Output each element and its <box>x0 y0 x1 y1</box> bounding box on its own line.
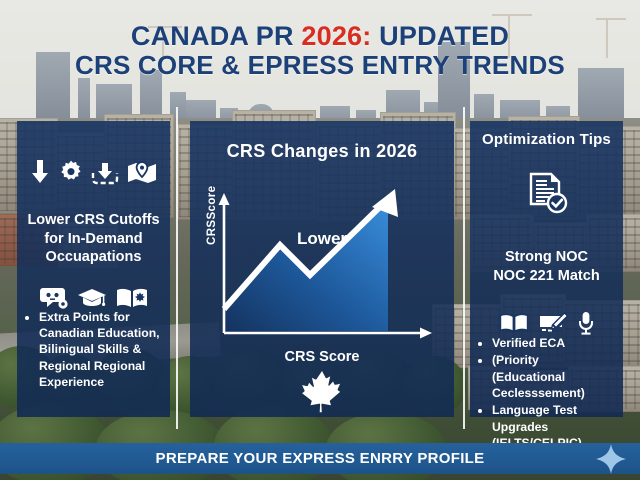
chart-svg <box>202 183 442 363</box>
right-panel-title: Optimization Tips <box>482 131 611 148</box>
graduation-cap-icon <box>77 287 107 309</box>
list-item: (Priority (Educational Ceclesssement) <box>492 352 615 401</box>
document-check-icon <box>525 172 569 216</box>
chart-x-axis-arrowhead <box>420 328 432 339</box>
headline-line-1: CANADA PR 2026: UPDATED <box>0 22 640 50</box>
list-item: Extra Points for Canadian Education, Bil… <box>39 309 162 391</box>
gear-icon <box>59 160 83 184</box>
cta-banner-text: PREPARE YOUR EXPRESS ENRRY PROFILE <box>156 450 485 467</box>
left-panel-icon-row-top <box>30 159 157 185</box>
chat-bot-icon <box>40 287 68 309</box>
open-book-maple-leaf-icon <box>116 287 148 309</box>
left-heading-line-1: Lower CRS Cutoffs <box>27 211 159 230</box>
maple-leaf-icon <box>301 369 343 411</box>
chart-area-fill <box>224 199 388 331</box>
left-panel-heading: Lower CRS Cutoffs for In-Demand Occuapat… <box>27 211 159 267</box>
panel-optimization-tips[interactable]: Optimization Tips Strong NOC NOC 221 Mat… <box>470 121 623 417</box>
microphone-icon <box>577 311 595 335</box>
open-book-icon <box>499 312 529 334</box>
divider-left <box>176 107 178 429</box>
center-panel-title: CRS Changes in 2026 <box>190 141 454 162</box>
sparkle-icon <box>596 444 626 474</box>
list-item: Verified ECA <box>492 335 615 351</box>
down-arrow-icon <box>30 159 50 185</box>
left-heading-line-3: Occuapations <box>27 248 159 267</box>
headline-year-accent: 2026: <box>301 21 371 51</box>
right-panel-bullet-list: Verified ECA (Priority (Educational Cecl… <box>478 335 615 452</box>
download-tray-icon <box>92 163 118 185</box>
crs-trend-chart <box>202 183 442 363</box>
headline-part-a: CANADA PR <box>131 21 302 51</box>
panel-crs-changes[interactable]: CRS Changes in 2026 CRSScore <box>190 121 454 417</box>
infographic-poster: CANADA PR 2026: UPDATED CRS CORE & EPRES… <box>0 0 640 480</box>
chart-x-axis-label: CRS Score <box>190 349 454 365</box>
headline-line-2: CRS CORE & EPRESS ENTRY TRENDS <box>0 52 640 79</box>
left-heading-line-2: for In-Demand <box>27 230 159 249</box>
right-panel-icon-row <box>499 311 595 335</box>
panel-lower-cutoffs[interactable]: Lower CRS Cutoffs for In-Demand Occuapat… <box>17 121 170 417</box>
chart-y-axis-arrowhead <box>219 193 230 205</box>
map-pin-icon <box>127 161 157 185</box>
cta-banner[interactable]: PREPARE YOUR EXPRESS ENRRY PROFILE <box>0 443 640 474</box>
right-heading-line-2: NOC 221 Match <box>493 267 599 286</box>
headline-part-b: UPDATED <box>371 21 509 51</box>
left-panel-bullet-list: Extra Points for Canadian Education, Bil… <box>25 309 162 392</box>
right-heading-line-1: Strong NOC <box>493 248 599 267</box>
page-title: CANADA PR 2026: UPDATED CRS CORE & EPRES… <box>0 22 640 79</box>
left-panel-icon-row-mid <box>40 287 148 309</box>
right-panel-heading: Strong NOC NOC 221 Match <box>493 248 599 285</box>
whiteboard-pencil-icon <box>538 312 568 334</box>
divider-right <box>463 107 465 429</box>
